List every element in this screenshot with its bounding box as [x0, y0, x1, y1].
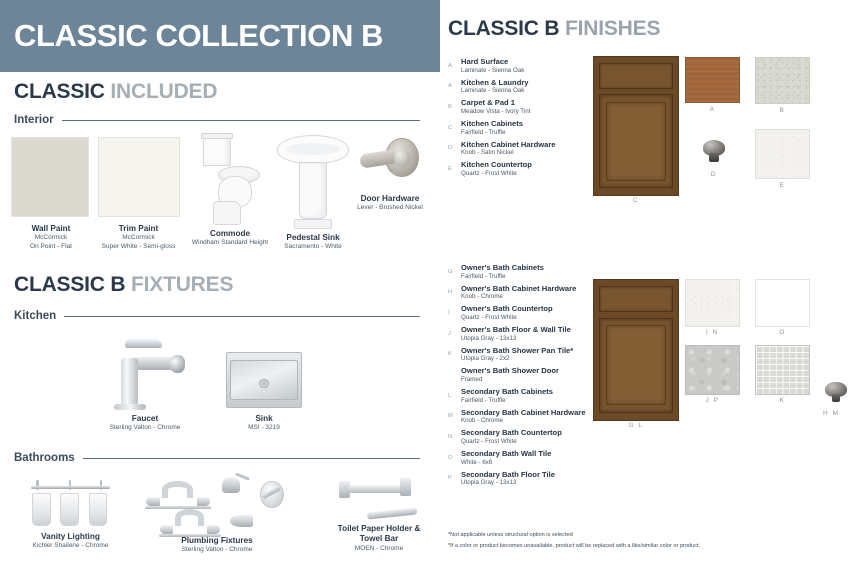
finish-key: M: [448, 413, 453, 419]
trim-paint-sub1: McCormick: [96, 234, 181, 242]
finish-detail: Utopia Gray - 13x13: [461, 479, 628, 487]
bathroom-item-plumbing-fixtures: Plumbing Fixtures Sterling Valton - Chro…: [143, 474, 291, 555]
tp-holder-sub1: MOEN - Chrome: [323, 545, 435, 553]
finish-name: Secondary Bath Floor Tile: [461, 470, 628, 480]
swatch-label: O: [755, 329, 810, 336]
wall-paint-sub2: On Point - Flat: [11, 243, 91, 251]
interior-divider: [62, 120, 420, 121]
finish-key: A: [448, 63, 452, 69]
quartz-image-2: [685, 279, 740, 327]
classic-b-finishes-heading: CLASSIC B FINISHES: [448, 17, 660, 41]
swatch-knob-D: D: [696, 138, 732, 184]
pedestal-sink-title: Pedestal Sink: [263, 233, 363, 243]
trim-paint-title: Trim Paint: [96, 224, 181, 234]
carpet-image: [755, 57, 810, 104]
kitchen-faucet-image: [103, 334, 187, 410]
swatch-wood-laminate-A: A: [685, 57, 740, 117]
interior-label: Interior: [14, 114, 54, 126]
finish-key: O: [448, 455, 453, 461]
finish-key: H: [448, 289, 452, 295]
footnote-1: *Not applicable unless structural option…: [448, 530, 848, 540]
bathrooms-section-label-row: Bathrooms: [14, 452, 420, 464]
finish-name: Secondary Bath Wall Tile: [461, 449, 628, 459]
sink-sub1: MSI - 3219: [218, 424, 310, 432]
swatch-label: D: [696, 171, 732, 178]
finish-entry: O Secondary Bath Wall Tile White - 6x6: [448, 449, 628, 467]
collection-title-banner: CLASSIC COLLECTION B: [0, 0, 440, 72]
pedestal-sink-image: [277, 133, 349, 229]
gray-floor-tile-image: [685, 345, 740, 395]
door-lever-image: [359, 135, 421, 183]
tp-holder-title2: Towel Bar: [323, 534, 435, 544]
finish-key: A: [448, 83, 452, 89]
collection-spec-sheet: CLASSIC COLLECTION B CLASSIC INCLUDED In…: [0, 0, 853, 569]
bathrooms-label: Bathrooms: [14, 452, 75, 464]
kitchen-section-label-row: Kitchen: [14, 310, 420, 322]
swatch-label: B: [755, 107, 810, 114]
kitchen-label: Kitchen: [14, 310, 56, 322]
cabinet-knob-image-2: [822, 380, 850, 405]
finishes-heading-light: FINISHES: [565, 17, 660, 40]
wall-paint-sub1: McCormick: [11, 234, 91, 242]
swatch-white-tile-O: O: [755, 279, 810, 339]
finish-key: C: [448, 125, 452, 131]
footnotes: *Not applicable unless structural option…: [448, 530, 848, 551]
page-title: CLASSIC COLLECTION B: [0, 18, 383, 54]
finish-key: P: [448, 475, 452, 481]
tp-holder-title: Toilet Paper Holder &: [323, 524, 435, 534]
finish-name: Owner's Bath Cabinets: [461, 263, 628, 273]
kitchen-sink-image: [226, 352, 302, 408]
swatch-label: E: [755, 182, 810, 189]
finish-key: K: [448, 351, 452, 357]
bathroom-item-toilet-paper-holder: Toilet Paper Holder & Towel Bar MOEN - C…: [323, 474, 435, 553]
faucet-title: Faucet: [95, 414, 195, 424]
fixtures-heading-light: FIXTURES: [131, 273, 233, 296]
left-column: CLASSIC COLLECTION B CLASSIC INCLUDED In…: [0, 0, 440, 569]
toilet-image: [199, 133, 261, 225]
swatch-label: C: [593, 197, 679, 204]
trim-paint-sub2: Super White - Semi-gloss: [96, 243, 181, 251]
quartz-image: [755, 129, 810, 179]
finish-key: I: [448, 310, 450, 316]
kitchen-item-faucet: Faucet Sterling Valton - Chrome: [95, 334, 195, 433]
finish-key: J: [448, 331, 451, 337]
vanity-lighting-title: Vanity Lighting: [18, 532, 123, 542]
swatch-quartz-E: E: [755, 129, 810, 191]
fixtures-heading-bold: CLASSIC B: [14, 273, 125, 296]
cabinet-knob-image: [699, 138, 729, 165]
wood-laminate-image: [685, 57, 740, 103]
finish-key: L: [448, 393, 451, 399]
swatch-label: K: [755, 397, 810, 404]
finish-entry: P Secondary Bath Floor Tile Utopia Gray …: [448, 470, 628, 488]
white-tile-image: [755, 279, 810, 327]
bathroom-item-vanity-lighting: Vanity Lighting Kichler Shailene - Chrom…: [18, 474, 123, 551]
swatch-label: I N: [685, 329, 740, 336]
swatch-label: G L: [593, 422, 679, 429]
finish-key: D: [448, 145, 452, 151]
interior-item-trim-paint: Trim Paint McCormick Super White - Semi-…: [96, 137, 181, 251]
door-hardware-title: Door Hardware: [340, 194, 440, 204]
kitchen-divider: [64, 316, 420, 317]
plumbing-fixtures-sub1: Sterling Valton - Chrome: [143, 546, 291, 554]
swatch-label: A: [685, 106, 740, 113]
classic-b-fixtures-heading: CLASSIC B FIXTURES: [14, 273, 233, 297]
vanity-light-image: [28, 474, 114, 530]
classic-included-heading: CLASSIC INCLUDED: [14, 80, 217, 104]
finishes-heading-bold: CLASSIC B: [448, 17, 559, 40]
swatch-knob-HM: H M: [821, 380, 853, 422]
swatch-quartz-IN: I N: [685, 279, 740, 339]
swatch-label: J P: [685, 397, 740, 404]
kitchen-item-sink: Sink MSI - 3219: [218, 352, 310, 433]
swatch-gray-tile-JP: J P: [685, 345, 740, 407]
finish-key: B: [448, 104, 452, 110]
classic-included-heading-light: INCLUDED: [110, 80, 217, 103]
shower-valve-image: [219, 474, 285, 532]
footnote-2: *If a color or product becomes unavailab…: [448, 541, 848, 551]
classic-included-heading-bold: CLASSIC: [14, 80, 105, 103]
bathrooms-divider: [83, 458, 420, 459]
swatch-label: H M: [823, 410, 853, 417]
finish-key: E: [448, 166, 452, 172]
wall-paint-swatch: [11, 137, 89, 217]
toilet-paper-holder-image: [337, 474, 421, 524]
mosaic-tile-image: [755, 345, 810, 395]
faucet-sub1: Sterling Valton - Chrome: [95, 424, 195, 432]
cabinet-door-image-2: [593, 279, 679, 421]
interior-item-door-hardware: Door Hardware Lever - Brushed Nickel: [340, 135, 440, 213]
right-column: CLASSIC B FINISHES A Hard Surface Lamina…: [445, 0, 853, 569]
pedestal-sink-sub1: Sacramento - White: [263, 243, 363, 251]
trim-paint-swatch: [98, 137, 180, 217]
cabinet-door-image: [593, 56, 679, 196]
finish-detail: Quartz - Frost White: [461, 438, 628, 446]
door-hardware-sub1: Lever - Brushed Nickel: [340, 204, 440, 212]
finish-key: G: [448, 269, 453, 275]
sink-title: Sink: [218, 414, 310, 424]
finish-entry: G Owner's Bath Cabinets Fairfield - Truf…: [448, 263, 628, 281]
interior-section-label-row: Interior: [14, 114, 420, 126]
swatch-cabinet-door-GL: G L: [593, 279, 679, 431]
finish-detail: White - 6x6: [461, 459, 628, 467]
finish-key: N: [448, 434, 452, 440]
swatch-carpet-B: B: [755, 57, 810, 117]
vanity-lighting-sub1: Kichler Shailene - Chrome: [18, 542, 123, 550]
swatch-cabinet-door-C: C: [593, 56, 679, 206]
interior-item-wall-paint: Wall Paint McCormick On Point - Flat: [11, 137, 91, 251]
lavatory-faucet-image-2: [159, 504, 221, 538]
swatch-mosaic-K: K: [755, 345, 810, 407]
wall-paint-title: Wall Paint: [11, 224, 91, 234]
